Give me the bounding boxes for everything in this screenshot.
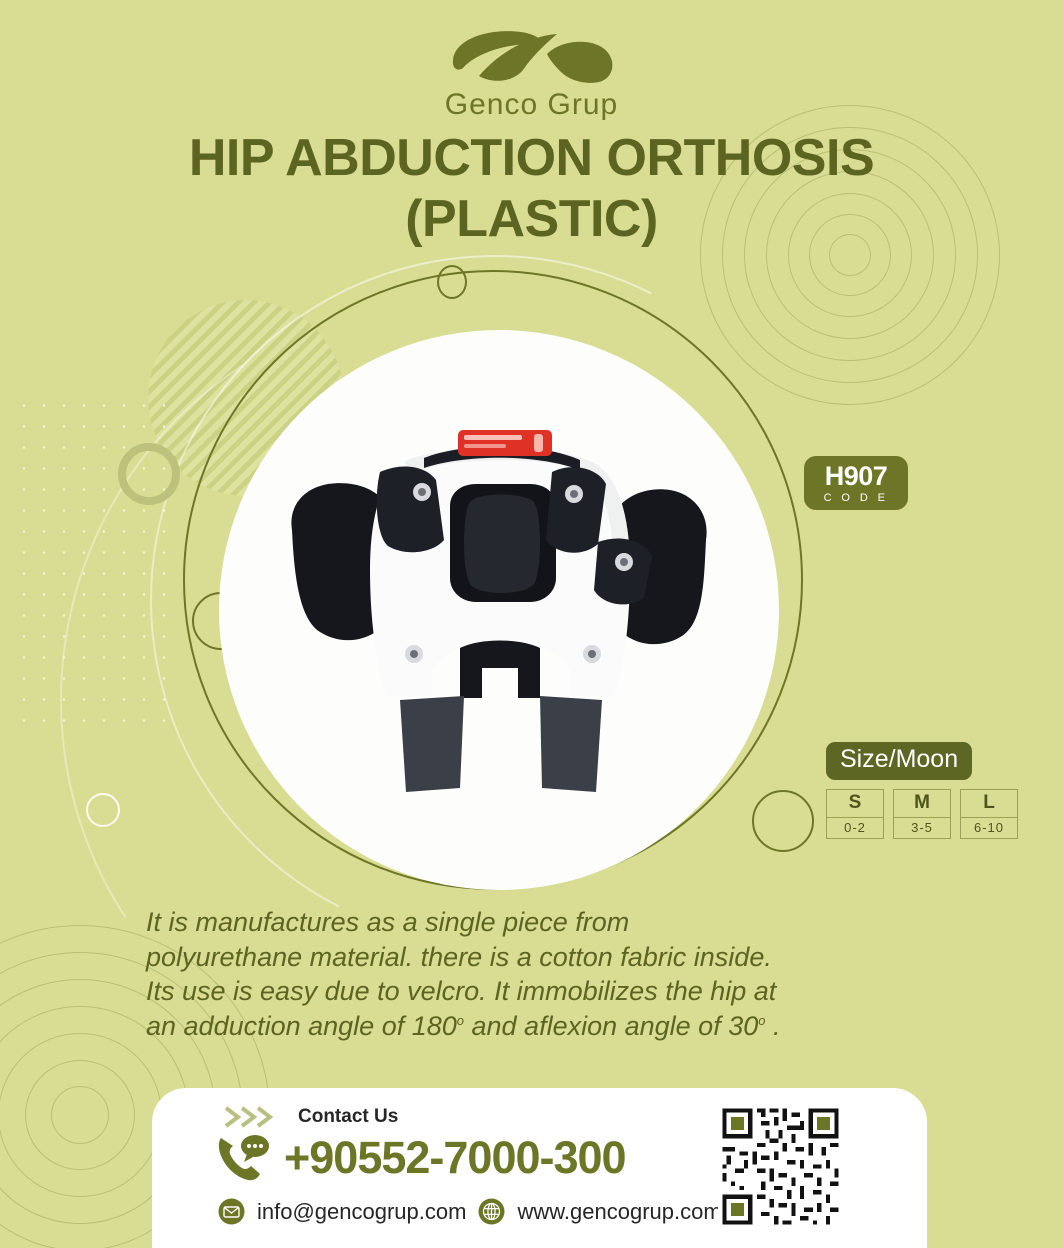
description-line-4: an adduction angle of 180o and aflexion … — [146, 1009, 936, 1044]
size-range-m: 3-5 — [894, 818, 950, 838]
size-label-s: S — [827, 790, 883, 818]
product-description: It is manufactures as a single piece fro… — [146, 905, 936, 1043]
description-line-1: It is manufactures as a single piece fro… — [146, 905, 936, 940]
size-chart-cells: S 0-2 M 3-5 L 6-10 — [826, 789, 1026, 839]
description-line-4-c: . — [765, 1011, 780, 1041]
description-line-3: Its use is easy due to velcro. It immobi… — [146, 974, 936, 1009]
description-line-4-a: an adduction angle of 180 — [146, 1011, 457, 1041]
phone-chat-icon — [214, 1132, 270, 1184]
description-line-4-b: and aflexion angle of 30 — [464, 1011, 758, 1041]
product-code-value: H907 — [825, 463, 888, 490]
title-line-1: HIP ABDUCTION ORTHOSIS — [189, 129, 874, 187]
orbit-node-top — [437, 265, 467, 299]
degree-symbol-1: o — [457, 1013, 464, 1028]
product-orthosis-illustration — [284, 410, 714, 810]
dot-grid-decoration — [14, 395, 174, 725]
title-line-2: (PLASTIC) — [60, 189, 1003, 250]
size-cell-s: S 0-2 — [826, 789, 884, 839]
brand-name: Genco Grup — [0, 88, 1063, 122]
contact-heading-row: Contact Us — [224, 1106, 398, 1128]
product-code-badge: H907 C O D E — [804, 456, 908, 510]
phone-number[interactable]: +90552-7000-300 — [284, 1132, 626, 1184]
olive-ring-decoration — [118, 443, 180, 505]
size-range-l: 6-10 — [961, 818, 1017, 838]
envelope-icon — [218, 1198, 245, 1225]
size-label-m: M — [894, 790, 950, 818]
contact-heading-text: Contact Us — [298, 1106, 398, 1128]
product-code-label: C O D E — [824, 492, 889, 504]
phone-row[interactable]: +90552-7000-300 — [214, 1132, 626, 1184]
globe-icon — [478, 1198, 505, 1225]
brand-logo: Genco Grup — [0, 24, 1063, 122]
white-ring-decoration — [86, 793, 120, 827]
poster-root: Genco Grup HIP ABDUCTION ORTHOSIS (PLAST… — [0, 0, 1063, 1248]
size-cell-m: M 3-5 — [893, 789, 951, 839]
qr-code-icon[interactable] — [718, 1104, 843, 1229]
page-title: HIP ABDUCTION ORTHOSIS (PLASTIC) — [60, 128, 1003, 251]
email-address[interactable]: info@gencogrup.com — [257, 1199, 466, 1225]
size-label-l: L — [961, 790, 1017, 818]
contact-footer: Contact Us +90552-7000-300 info@gencogru… — [152, 1088, 927, 1248]
links-row: info@gencogrup.com www.gencogrup.com — [218, 1198, 722, 1225]
description-line-2: polyurethane material. there is a cotton… — [146, 940, 936, 975]
website-url[interactable]: www.gencogrup.com — [517, 1199, 721, 1225]
product-image-circle — [219, 330, 779, 890]
size-chart-heading: Size/Moon — [826, 742, 972, 780]
size-cell-l: L 6-10 — [960, 789, 1018, 839]
size-range-s: 0-2 — [827, 818, 883, 838]
orbit-node-bottom-right — [752, 790, 814, 852]
size-chart: Size/Moon S 0-2 M 3-5 L 6-10 — [826, 742, 1026, 839]
leaf-logo-icon — [439, 24, 625, 86]
chevron-right-icon — [224, 1106, 286, 1128]
